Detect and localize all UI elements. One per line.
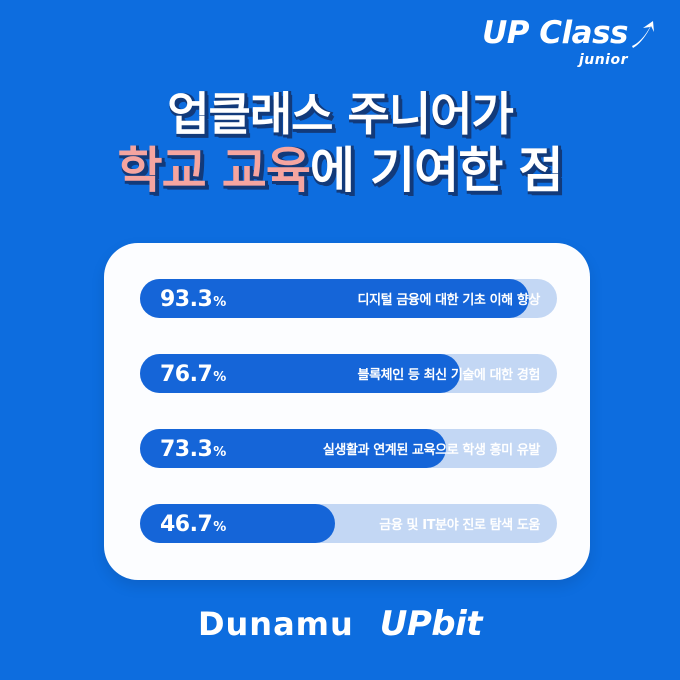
title-line-2: 학교 교육에 기여한 점: [0, 143, 680, 200]
bar-row: 76.7 % 블록체인 등 최신 기술에 대한 경험: [140, 354, 557, 393]
bar-value: 76.7 %: [160, 354, 226, 393]
bar-value-percent-sign: %: [213, 295, 226, 310]
infographic-poster: UP Class junior 업클래스 주니어가 학교 교육에 기여한 점 9…: [0, 0, 680, 680]
bar-value: 93.3 %: [160, 279, 226, 318]
bar-value-number: 76.7: [160, 362, 212, 387]
brand-logo-text: UP Class: [482, 18, 628, 49]
bar-chart: 93.3 % 디지털 금융에 대한 기초 이해 향상 76.7 % 블록체인 등…: [104, 279, 590, 543]
bar-value-number: 93.3: [160, 287, 212, 312]
bar-label: 블록체인 등 최신 기술에 대한 경험: [358, 354, 540, 393]
brand-logo-subtitle: junior: [482, 53, 628, 67]
up-arrow-icon: [630, 19, 656, 49]
title-highlight: 학교 교육: [118, 142, 310, 199]
brand-logo: UP Class junior: [482, 18, 656, 67]
footer-logos: Dunamu UPbit: [0, 604, 680, 644]
bar-row: 93.3 % 디지털 금융에 대한 기초 이해 향상: [140, 279, 557, 318]
bar-label: 금융 및 IT분야 진로 탐색 도움: [379, 504, 540, 543]
bar-value-number: 73.3: [160, 437, 212, 462]
title-rest: 에 기여한 점: [310, 142, 563, 199]
chart-card: 93.3 % 디지털 금융에 대한 기초 이해 향상 76.7 % 블록체인 등…: [104, 243, 590, 580]
bar-value-percent-sign: %: [213, 445, 226, 460]
upbit-logo: UPbit: [380, 604, 482, 644]
bar-value-number: 46.7: [160, 512, 212, 537]
brand-logo-main: UP Class: [482, 18, 656, 49]
dunamu-logo: Dunamu: [198, 605, 354, 643]
bar-label: 실생활과 연계된 교육으로 학생 흥미 유발: [323, 429, 540, 468]
bar-row: 46.7 % 금융 및 IT분야 진로 탐색 도움: [140, 504, 557, 543]
bar-row: 73.3 % 실생활과 연계된 교육으로 학생 흥미 유발: [140, 429, 557, 468]
bar-label: 디지털 금융에 대한 기초 이해 향상: [358, 279, 540, 318]
bar-value-percent-sign: %: [213, 520, 226, 535]
bar-value: 46.7 %: [160, 504, 226, 543]
bar-value: 73.3 %: [160, 429, 226, 468]
page-title: 업클래스 주니어가 학교 교육에 기여한 점: [0, 88, 680, 200]
bar-value-percent-sign: %: [213, 370, 226, 385]
title-line-1: 업클래스 주니어가: [0, 88, 680, 141]
